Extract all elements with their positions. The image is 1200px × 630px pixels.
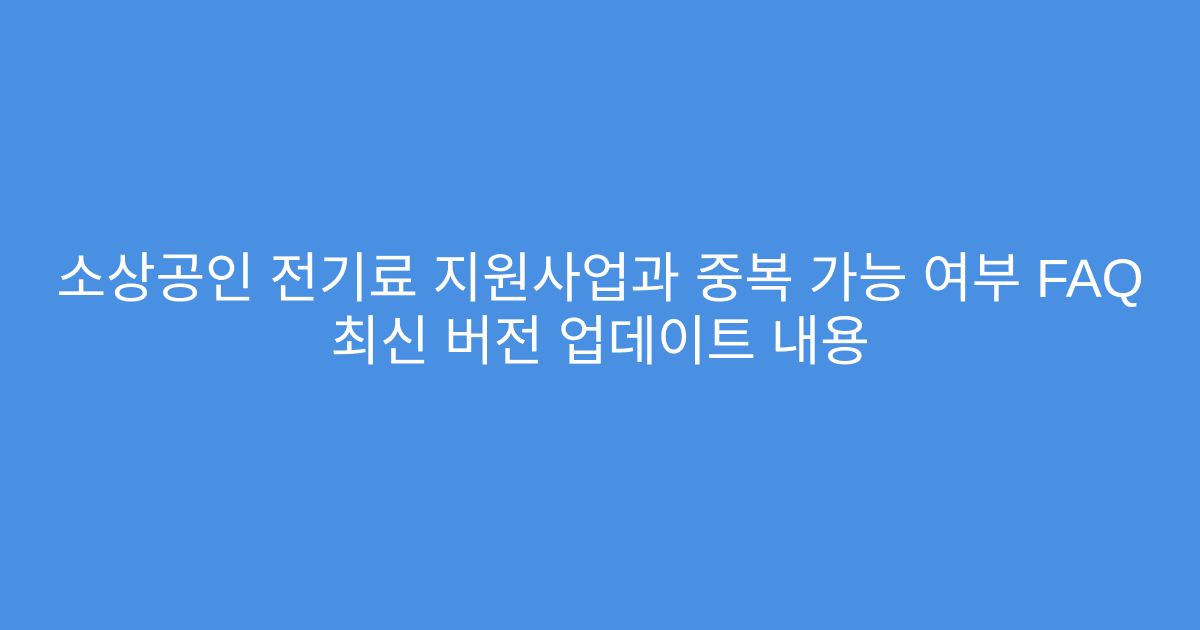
page-title-line-2: 최신 버전 업데이트 내용 bbox=[40, 311, 1160, 374]
page-title-line-1: 소상공인 전기료 지원사업과 중복 가능 여부 FAQ bbox=[40, 248, 1160, 311]
share-card: 소상공인 전기료 지원사업과 중복 가능 여부 FAQ 최신 버전 업데이트 내… bbox=[0, 0, 1200, 630]
page-title: 소상공인 전기료 지원사업과 중복 가능 여부 FAQ 최신 버전 업데이트 내… bbox=[40, 248, 1160, 374]
